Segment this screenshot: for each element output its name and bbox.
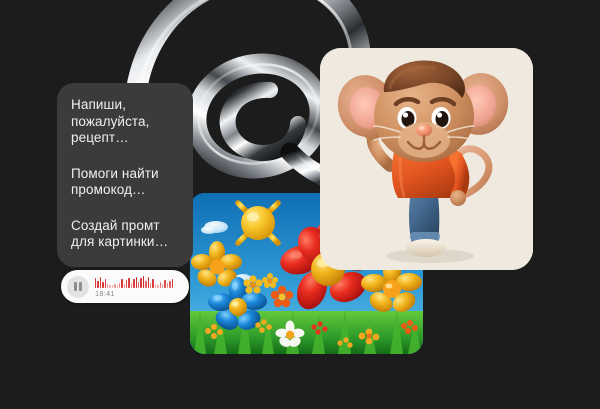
waveform-bar [117, 285, 118, 288]
waveform-bar [133, 279, 134, 288]
waveform-bar [100, 277, 101, 288]
waveform-bar [152, 279, 153, 288]
waveform-bar [97, 281, 98, 288]
waveform-bar [162, 284, 163, 288]
waveform-bar [121, 279, 122, 288]
waveform-bar [150, 283, 151, 288]
waveform-bar [128, 278, 129, 288]
waveform-bar [112, 285, 113, 288]
voice-message-player[interactable]: 18:41 [61, 270, 189, 303]
waveform-bar [109, 285, 110, 288]
sun-shape [230, 195, 286, 251]
mouse-character-card[interactable] [320, 48, 533, 270]
waveform-bar [172, 279, 173, 288]
waveform-bar [124, 284, 125, 288]
waveform-bar [157, 285, 158, 288]
waveform-bar [105, 279, 106, 288]
pause-bar-right [79, 282, 82, 291]
waveform-bar [164, 280, 165, 288]
waveform-bar [126, 280, 127, 288]
waveform-bar [102, 282, 103, 288]
waveform-bar [131, 283, 132, 288]
waveform-bar [107, 284, 108, 288]
prompt-suggestion-2[interactable]: Помоги найти промокод… [71, 166, 179, 199]
waveform-bar [155, 284, 156, 288]
waveform-bar [140, 278, 141, 288]
waveform-bar [160, 282, 161, 288]
prompt-suggestions-bubble[interactable]: Напиши, пожалуйста, рецепт… Помоги найти… [57, 83, 193, 267]
prompt-suggestion-3[interactable]: Создай промт для картинки… [71, 218, 179, 251]
voice-duration: 18:41 [95, 289, 182, 298]
voice-waveform[interactable] [95, 276, 182, 288]
waveform-bar [143, 276, 144, 288]
pause-icon[interactable] [67, 276, 89, 298]
waveform-bar [119, 283, 120, 288]
voice-message-body: 18:41 [95, 276, 182, 298]
pause-bar-left [74, 282, 77, 291]
waveform-bar [169, 281, 170, 288]
mouse-character-svg [320, 48, 533, 270]
waveform-bar [95, 278, 96, 288]
prompt-suggestion-1[interactable]: Напиши, пожалуйста, рецепт… [71, 97, 179, 147]
screen-canvas: Напиши, пожалуйста, рецепт… Помоги найти… [0, 0, 600, 409]
waveform-bar [167, 283, 168, 288]
waveform-bar [136, 277, 137, 288]
waveform-bar [114, 284, 115, 288]
waveform-bar [138, 282, 139, 288]
waveform-bar [145, 281, 146, 288]
waveform-bar [148, 277, 149, 288]
